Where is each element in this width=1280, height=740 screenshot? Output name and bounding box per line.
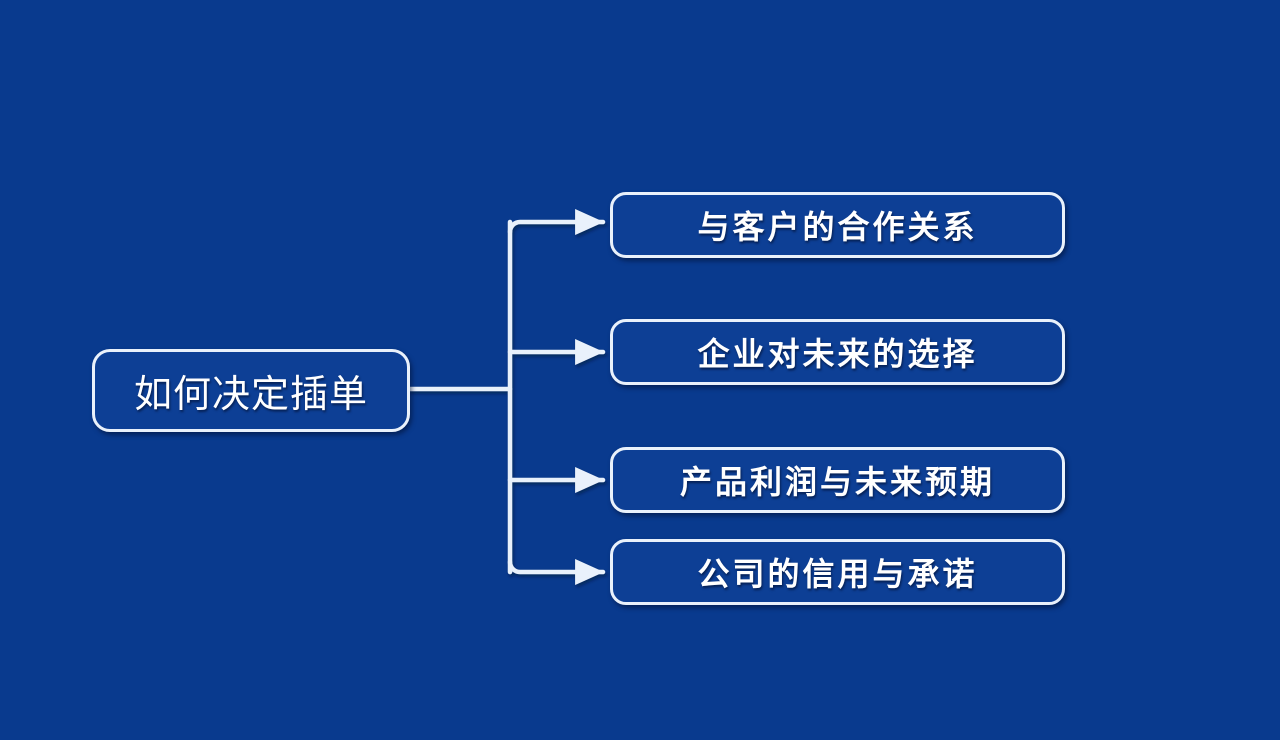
connector-branch-1: [510, 222, 603, 232]
root-node-label: 如何决定插单: [134, 363, 368, 418]
branch-node-2-label: 企业对未来的选择: [697, 329, 977, 375]
mindmap-canvas: 如何决定插单 与客户的合作关系 企业对未来的选择 产品利润与未来预期 公司的信用…: [0, 0, 1280, 740]
branch-node-3-label: 产品利润与未来预期: [680, 457, 995, 503]
branch-node-4-label: 公司的信用与承诺: [697, 549, 977, 595]
branch-node-2[interactable]: 企业对未来的选择: [610, 319, 1065, 385]
connector-branch-4: [510, 562, 603, 572]
root-node[interactable]: 如何决定插单: [92, 349, 410, 432]
branch-node-3[interactable]: 产品利润与未来预期: [610, 447, 1065, 513]
branch-node-1[interactable]: 与客户的合作关系: [610, 192, 1065, 258]
branch-node-1-label: 与客户的合作关系: [697, 202, 977, 248]
branch-node-4[interactable]: 公司的信用与承诺: [610, 539, 1065, 605]
